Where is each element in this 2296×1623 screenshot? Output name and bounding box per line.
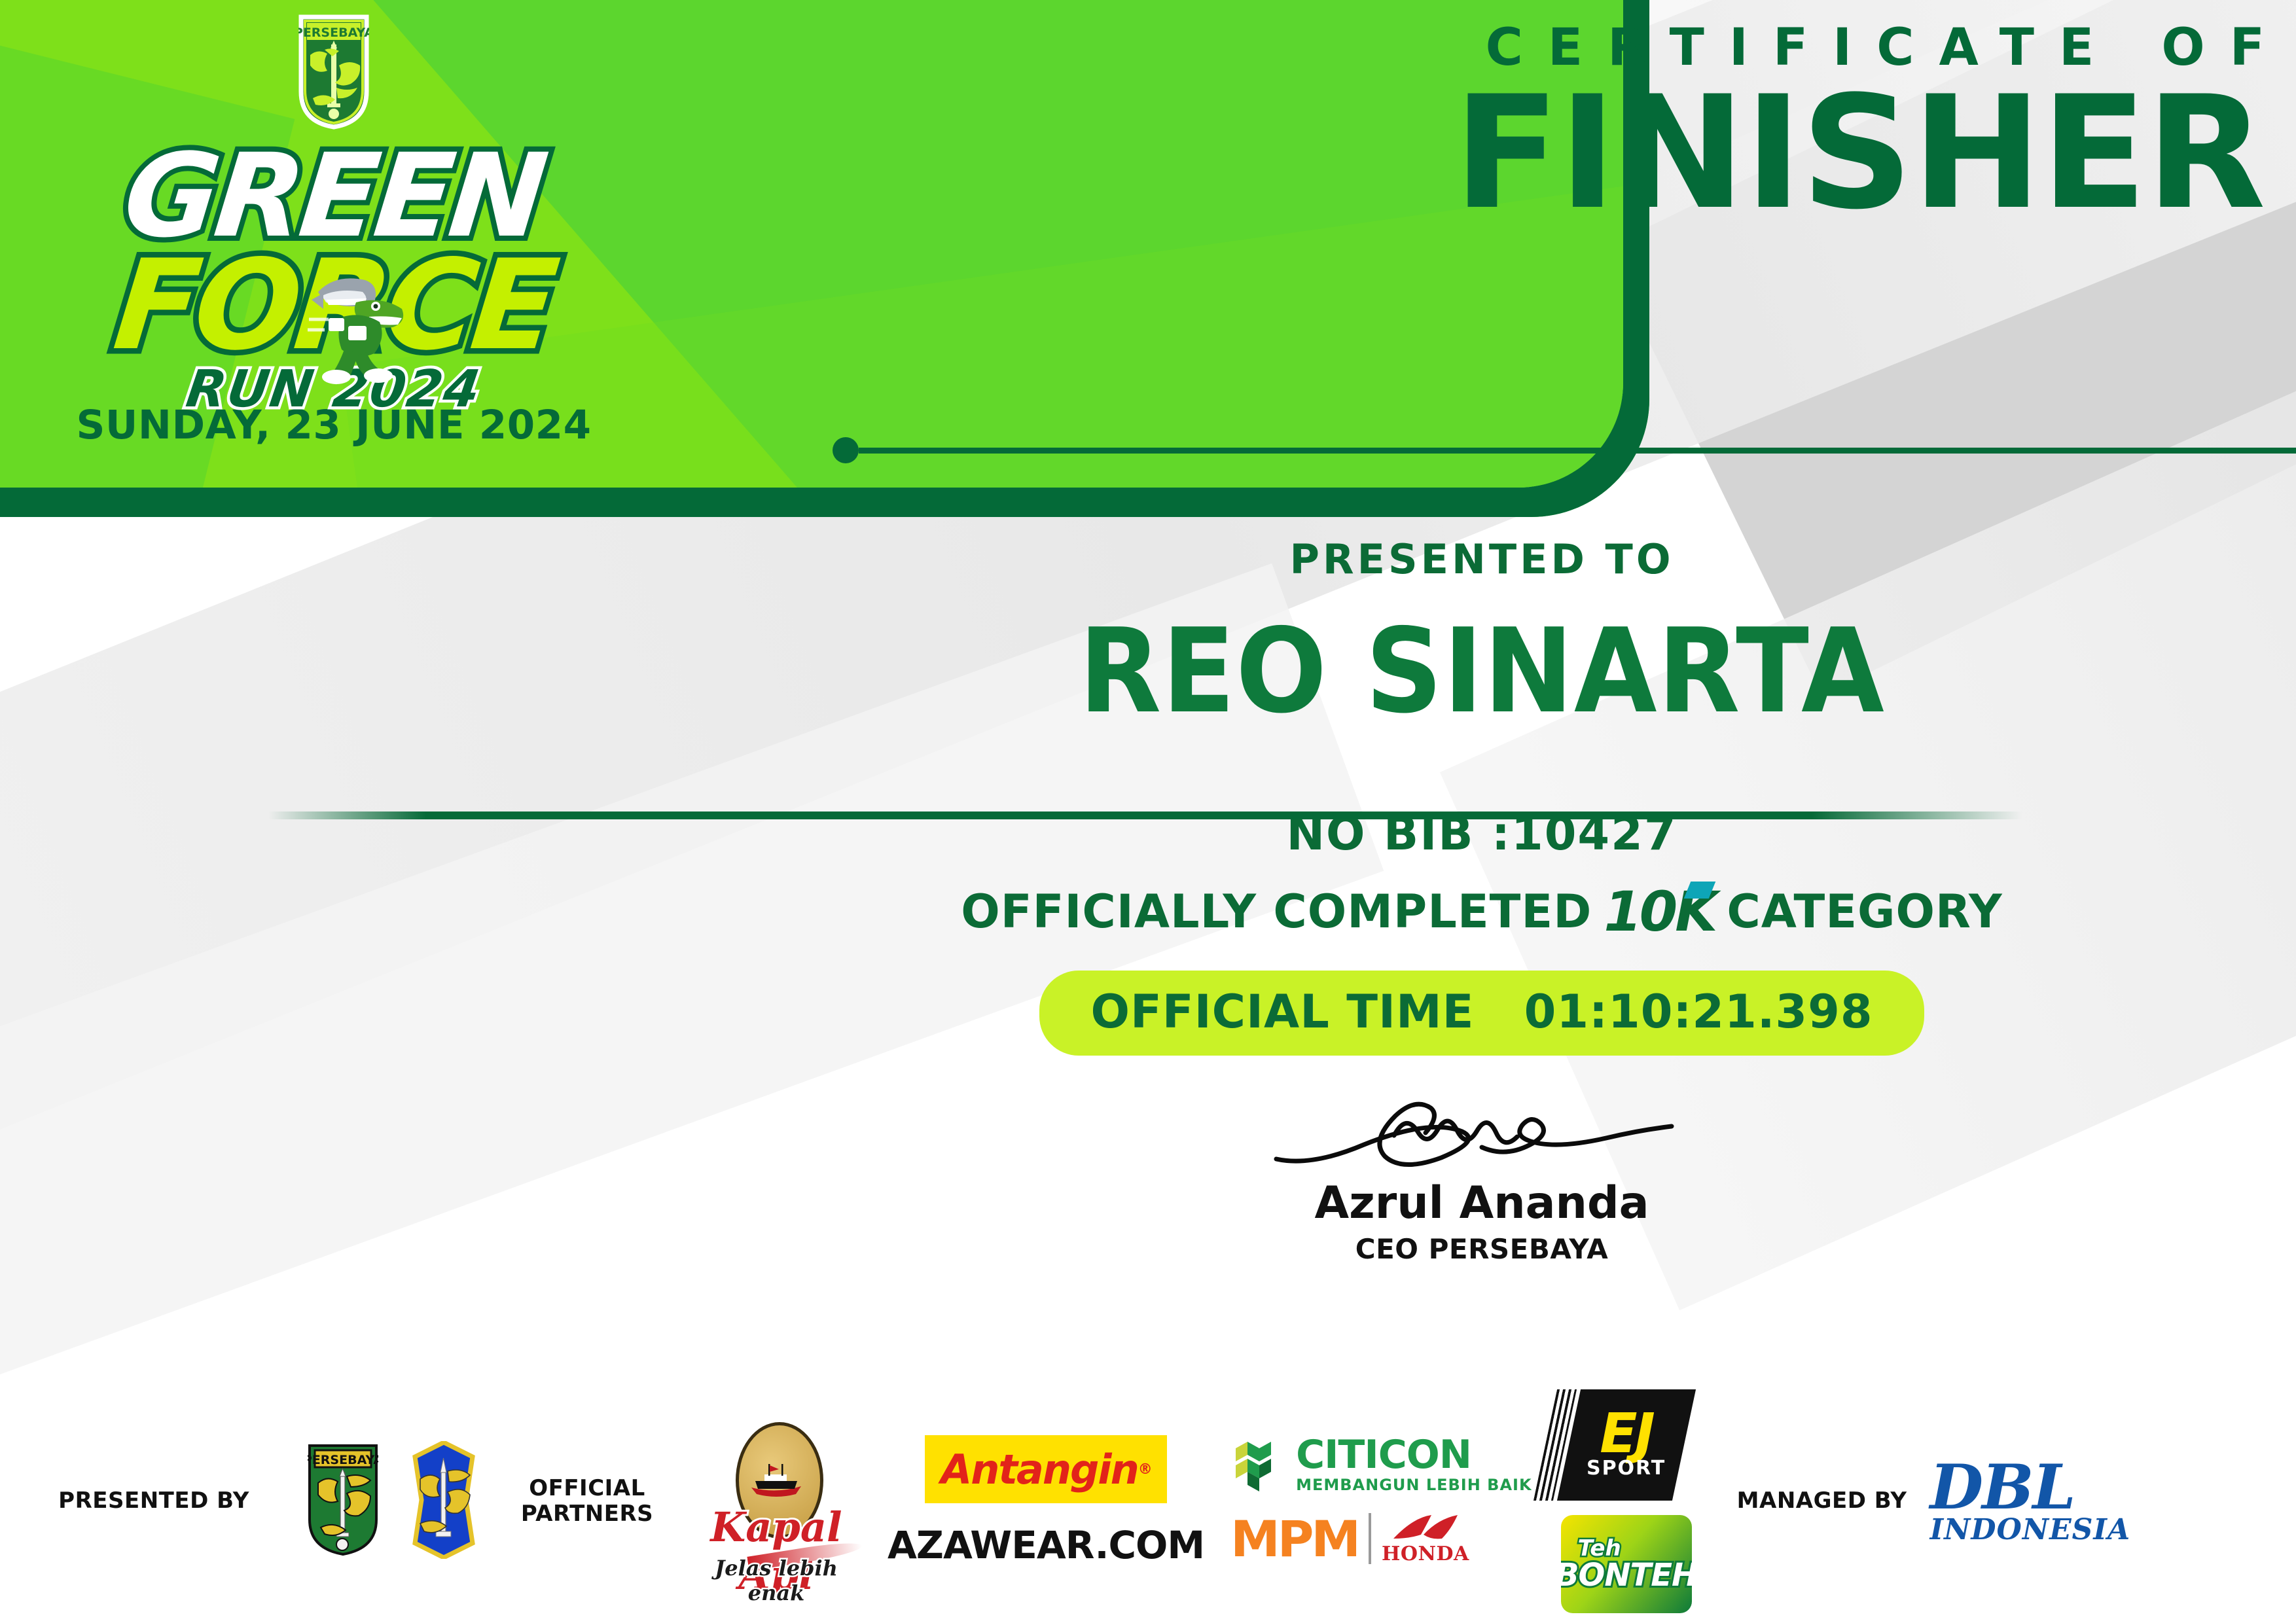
official-partners-label: OFFICIAL PARTNERS <box>505 1476 669 1527</box>
sponsor-antangin: Antangin® <box>925 1435 1167 1503</box>
mpm-divider <box>1369 1513 1371 1564</box>
official-time-badge: OFFICIAL TIME 01:10:21.398 <box>1039 971 1924 1056</box>
bullet-rule <box>833 437 2296 463</box>
ej-sport-name: EJ <box>1587 1410 1666 1457</box>
green-force-wordmark: GREEN FORCE <box>85 134 583 395</box>
citicon-name: CITICON <box>1296 1435 1532 1474</box>
persebaya-crest-icon-footer: PERSEBAYA <box>308 1444 378 1560</box>
svg-text:PERSEBAYA: PERSEBAYA <box>298 26 369 40</box>
recipient-name: REO SINARTA <box>733 613 2231 730</box>
persebaya-crest-icon: PERSEBAYA <box>298 14 369 130</box>
bullet-dot-icon <box>833 437 859 463</box>
sponsor-kapal-api: Kapal Api Jelas lebih enak <box>685 1419 868 1583</box>
official-time-label: OFFICIAL TIME <box>1090 985 1474 1039</box>
handwritten-signature-icon <box>1266 1096 1698 1175</box>
ship-illustration-icon <box>749 1463 804 1498</box>
svg-text:PERSEBAYA: PERSEBAYA <box>308 1453 378 1467</box>
presented-by-label: PRESENTED BY <box>0 1488 308 1514</box>
citicon-tagline: MEMBANGUN LEBIH BAIK <box>1296 1477 1532 1493</box>
antangin-registered-mark: ® <box>1138 1461 1151 1478</box>
sponsor-ej-bonteh: EJ SPORT Teh BONTEH <box>1561 1389 1692 1613</box>
sponsor-dbl-indonesia: DBL INDONESIA <box>1930 1460 2131 1543</box>
official-time-value: 01:10:21.398 <box>1524 985 1873 1039</box>
citicon-cube-icon <box>1230 1435 1287 1493</box>
antangin-name: Antangin <box>941 1446 1138 1493</box>
certificate-root: PERSEBAYA GREEN FORCE <box>0 0 2296 1623</box>
category-line: OFFICIALLY COMPLETED 10K CATEGORY <box>668 884 2296 939</box>
certificate-title-block: CERTIFICATE OF FINISHER <box>1454 18 2265 226</box>
sponsor-antangin-azawear: Antangin® AZAWEAR.COM <box>888 1435 1204 1567</box>
category-prefix: OFFICIALLY COMPLETED <box>961 885 1592 938</box>
event-logo-block: PERSEBAYA GREEN FORCE <box>0 0 668 488</box>
bullet-rule-line <box>859 448 2296 454</box>
dbl-name: DBL <box>1930 1460 2131 1516</box>
mpm-name: MPM <box>1230 1510 1358 1568</box>
ej-sport-sub: SPORT <box>1587 1457 1666 1480</box>
sponsor-footer: PRESENTED BY PERSEBAYA <box>0 1380 2296 1623</box>
presenter-logos: PERSEBAYA <box>308 1441 479 1562</box>
ten-k-logo: 10K <box>1604 884 1715 939</box>
dbl-sub: INDONESIA <box>1930 1517 2131 1543</box>
kapal-api-tagline: Jelas lebih enak <box>685 1556 868 1605</box>
signer-title: CEO PERSEBAYA <box>1355 1233 1609 1265</box>
shark-crocodile-mascot-icon <box>306 262 418 386</box>
sponsor-ej-sport: EJ SPORT <box>1557 1389 1696 1501</box>
category-suffix: CATEGORY <box>1727 885 2002 938</box>
certificate-finisher-title: FINISHER <box>1454 81 2265 226</box>
sponsor-mpm-honda: MPM HONDA <box>1230 1510 1469 1568</box>
honda-wing-icon <box>1390 1512 1462 1543</box>
certificate-body: PRESENTED TO REO SINARTA NO BIB :10427 O… <box>668 497 2296 1265</box>
teh-bonteh-line1: Teh <box>1578 1537 1621 1560</box>
sponsor-citicon: CITICON MEMBANGUN LEBIH BAIK <box>1230 1435 1532 1493</box>
signer-name: Azrul Ananda <box>1314 1177 1649 1229</box>
honda-name: HONDA <box>1382 1543 1469 1565</box>
presented-to-label: PRESENTED TO <box>668 535 2296 583</box>
sponsor-azawear: AZAWEAR.COM <box>888 1523 1204 1567</box>
sponsor-teh-bonteh: Teh BONTEH <box>1561 1515 1692 1613</box>
teh-bonteh-line2: BONTEH <box>1561 1560 1692 1591</box>
signature-block: Azrul Ananda CEO PERSEBAYA <box>668 1096 2296 1265</box>
managed-by-label: MANAGED BY <box>1714 1488 1930 1514</box>
sponsor-citicon-mpm: CITICON MEMBANGUN LEBIH BAIK MPM HONDA <box>1230 1435 1532 1568</box>
ej-sport-stripes <box>1534 1389 1577 1501</box>
surabaya-city-crest-icon <box>408 1441 479 1562</box>
section-divider <box>268 811 2022 819</box>
